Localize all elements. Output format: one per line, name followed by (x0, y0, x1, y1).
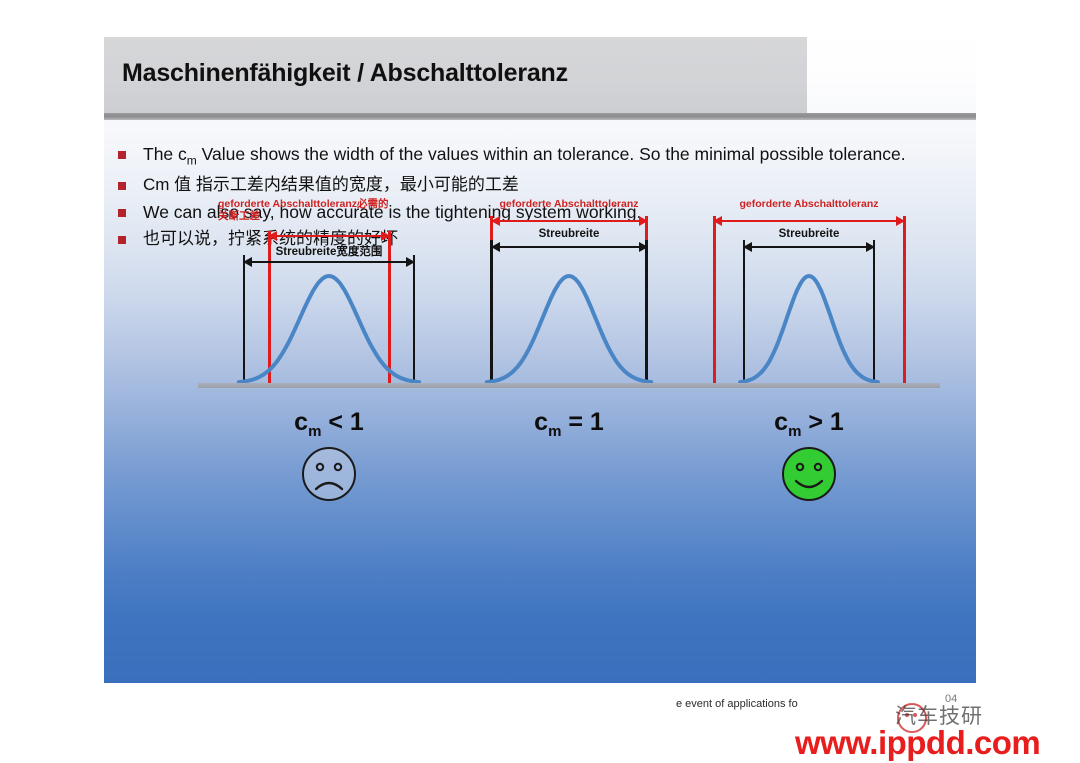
sad-face-icon (300, 445, 358, 503)
chart-row: geforderte Abschalttoleranz必需的关断工差Streub… (104, 198, 976, 448)
chart-baseline (198, 383, 460, 388)
happy-face-icon (780, 445, 838, 503)
bullet-item: The cm Value shows the width of the valu… (118, 143, 976, 169)
bullet-marker-icon (118, 151, 126, 159)
chart-baseline (678, 383, 940, 388)
header-divider (104, 113, 976, 120)
header-banner: Maschinenfähigkeit / Abschalttoleranz (104, 37, 807, 113)
distribution-curve (204, 198, 454, 389)
footer-note: e event of applications fo (676, 698, 798, 710)
page-title: Maschinenfähigkeit / Abschalttoleranz (122, 59, 568, 88)
bullet-text: The cm Value shows the width of the valu… (143, 143, 906, 169)
chart-baseline (438, 383, 700, 388)
distribution-curve (444, 198, 694, 389)
chart-panel-cm-equals-1: geforderte AbschalttoleranzStreubreitecm… (444, 198, 694, 448)
chart-panel-cm-less-than-1: geforderte Abschalttoleranz必需的关断工差Streub… (204, 198, 454, 448)
slide-canvas: Maschinenfähigkeit / Abschalttoleranz Th… (104, 28, 976, 683)
distribution-curve (684, 198, 934, 389)
bullet-item: Cm 值 指示工差内结果值的宽度，最小可能的工差 (118, 174, 976, 196)
cm-value-label: cm = 1 (444, 408, 694, 440)
watermark-url: www.ippdd.com (795, 724, 1040, 762)
cm-value-label: cm < 1 (204, 408, 454, 440)
bullet-text: Cm 值 指示工差内结果值的宽度，最小可能的工差 (143, 174, 519, 196)
bullet-marker-icon (118, 182, 126, 190)
chart-panel-cm-greater-than-1: geforderte AbschalttoleranzStreubreitecm… (684, 198, 934, 448)
cm-value-label: cm > 1 (684, 408, 934, 440)
